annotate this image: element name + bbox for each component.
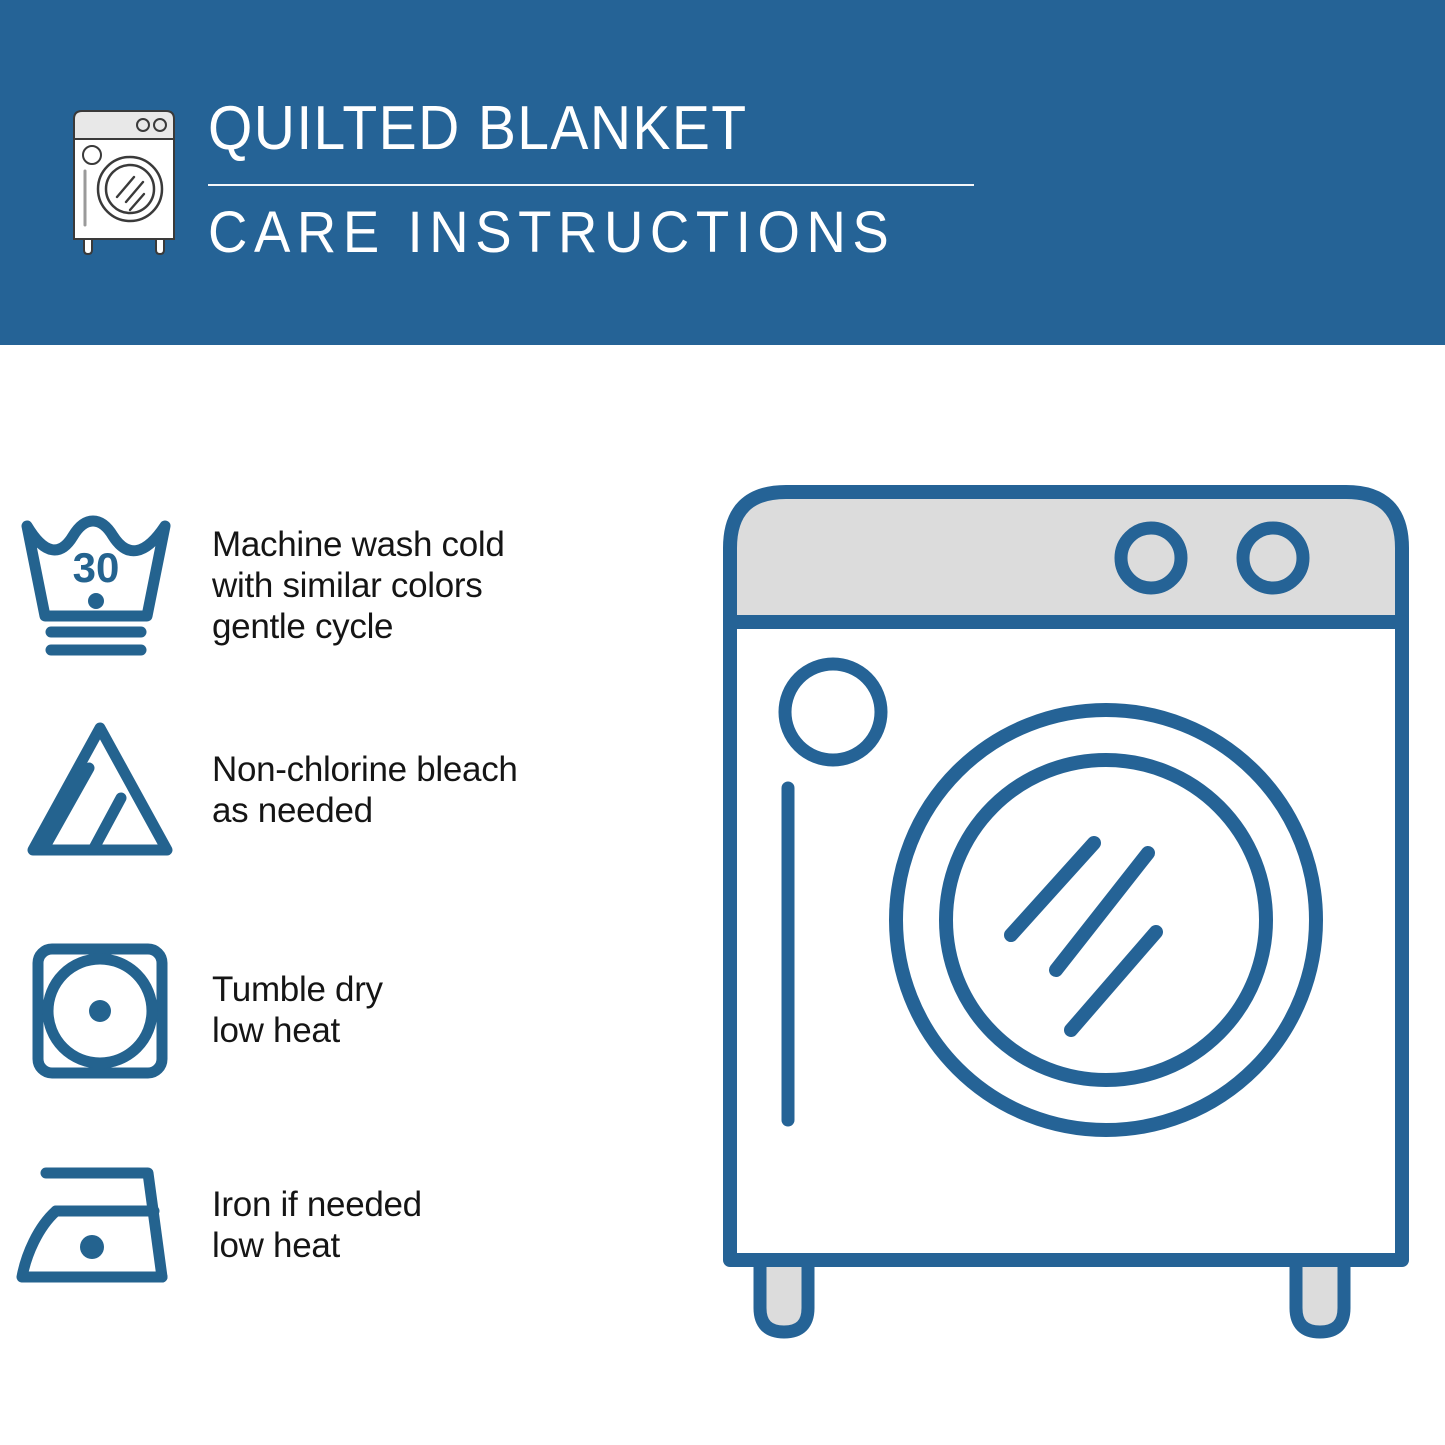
care-item-label: Tumble dry low heat [200,969,383,1051]
care-item-label: Non-chlorine bleach as needed [200,749,518,831]
header-title-block: QUILTED BLANKET CARE INSTRUCTIONS [208,96,1008,264]
care-item-line-1: Tumble dry [212,969,383,1010]
iron-low-heat-icon [0,1140,200,1310]
care-item-line-2: low heat [212,1010,383,1051]
page-title: QUILTED BLANKET [208,96,944,162]
page-subtitle: CARE INSTRUCTIONS [208,202,960,264]
washing-machine-icon [64,105,184,255]
care-item-line-3: gentle cycle [212,606,505,647]
leg-left [760,1260,808,1332]
non-chlorine-bleach-triangle-icon [0,705,200,875]
care-item-machine-wash: 30 Machine wash cold with similar colors… [0,495,700,675]
tumble-dry-low-icon [0,925,200,1095]
care-item-line-2: as needed [212,790,518,831]
header-banner: QUILTED BLANKET CARE INSTRUCTIONS [0,0,1445,345]
care-instruction-list: 30 Machine wash cold with similar colors… [0,345,700,1445]
care-label-page: QUILTED BLANKET CARE INSTRUCTIONS 30 [0,0,1445,1445]
care-item-iron: Iron if needed low heat [0,1135,700,1315]
care-item-line-1: Non-chlorine bleach [212,749,518,790]
wash-tub-30-icon: 30 [0,500,200,670]
care-item-label: Iron if needed low heat [200,1184,422,1266]
care-item-line-2: with similar colors [212,565,505,606]
care-item-line-1: Machine wash cold [212,524,505,565]
front-load-washing-machine-illustration [716,470,1416,1360]
care-item-tumble-dry: Tumble dry low heat [0,920,700,1100]
leg-right [1296,1260,1344,1332]
title-divider [208,184,974,186]
wash-temperature-label: 30 [73,544,120,591]
care-item-label: Machine wash cold with similar colors ge… [200,524,505,647]
care-item-bleach: Non-chlorine bleach as needed [0,700,700,880]
care-item-line-2: low heat [212,1225,422,1266]
care-item-line-1: Iron if needed [212,1184,422,1225]
